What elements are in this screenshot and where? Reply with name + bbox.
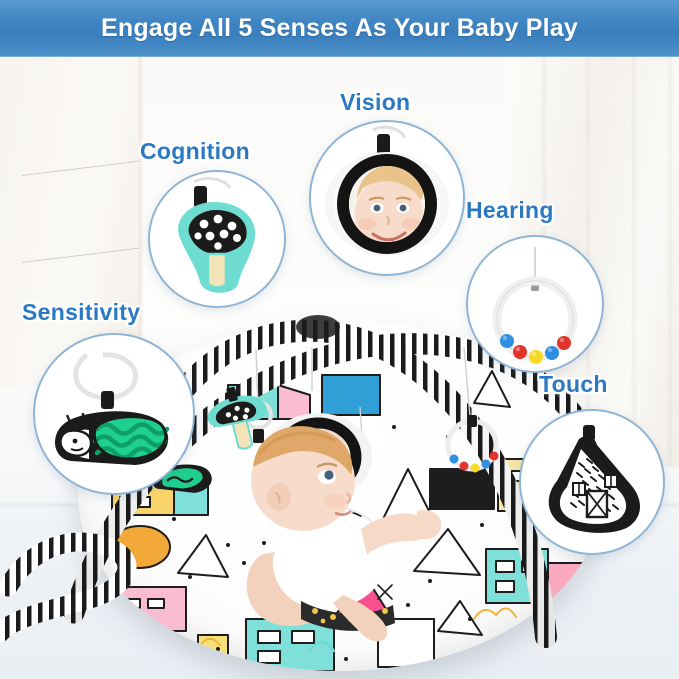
mushroom-rattle-icon — [150, 172, 284, 306]
callout-hearing — [466, 235, 604, 373]
label-cognition: Cognition — [140, 138, 250, 165]
curtain-fold — [633, 57, 635, 467]
house-plush-icon — [521, 411, 663, 553]
label-touch: Touch — [539, 371, 608, 398]
callout-touch-inner — [521, 411, 663, 553]
label-vision: Vision — [340, 89, 410, 116]
callout-sensitivity — [33, 333, 195, 495]
baby — [235, 405, 455, 655]
bead-teether-ring-icon — [468, 237, 602, 371]
label-sensitivity: Sensitivity — [22, 299, 140, 326]
room-background: Sensitivity — [0, 57, 679, 679]
callout-cognition-inner — [150, 172, 284, 306]
callout-hearing-inner — [468, 237, 602, 371]
snail-plush-icon — [35, 335, 193, 493]
banner-title: Engage All 5 Senses As Your Baby Play — [101, 14, 578, 43]
callout-vision — [309, 120, 465, 276]
callout-cognition — [148, 170, 286, 308]
header-banner: Engage All 5 Senses As Your Baby Play — [0, 0, 679, 57]
product-feature-image: Engage All 5 Senses As Your Baby Play — [0, 0, 679, 679]
callout-sensitivity-inner — [35, 335, 193, 493]
curtain-fold — [669, 57, 671, 467]
baby-mirror-icon — [311, 122, 463, 274]
callout-vision-inner — [311, 122, 463, 274]
label-hearing: Hearing — [466, 197, 554, 224]
callout-touch — [519, 409, 665, 555]
